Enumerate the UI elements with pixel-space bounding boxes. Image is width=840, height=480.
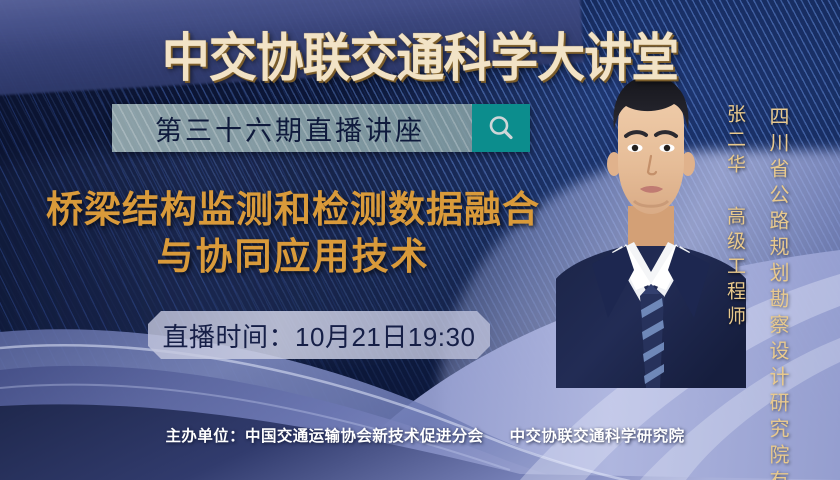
footer-organizers: 主办单位：中国交通运输协会新技术促进分会中交协联交通科学研究院: [0, 424, 840, 446]
speaker-name-vertical: 张二华 高级工程师: [721, 104, 748, 331]
live-lecture-poster: 中交协联交通科学大讲堂 第三十六期直播讲座 桥梁结构监测和检测数据融合 与协同应…: [0, 0, 840, 480]
search-button[interactable]: [472, 104, 530, 152]
speaker-portrait: [556, 58, 746, 388]
episode-label-container: 第三十六期直播讲座: [112, 104, 472, 152]
episode-bar: 第三十六期直播讲座: [112, 104, 530, 152]
page-title: 中交协联交通科学大讲堂: [34, 16, 807, 91]
lecture-title-line-2: 与协同应用技术: [28, 233, 558, 280]
broadcast-time-badge: 直播时间：10月21日19:30: [148, 311, 490, 359]
lecture-title: 桥梁结构监测和检测数据融合 与协同应用技术: [28, 186, 558, 281]
lecture-title-line-1: 桥梁结构监测和检测数据融合: [28, 186, 558, 233]
footer-organizer-2: 中交协联交通科学研究院: [510, 428, 685, 445]
broadcast-time-text: 直播时间：10月21日19:30: [163, 317, 476, 354]
episode-label: 第三十六期直播讲座: [155, 109, 425, 148]
footer-prefix: 主办单位：: [166, 428, 246, 445]
footer-organizer-1: 中国交通运输协会新技术促进分会: [245, 428, 484, 445]
search-icon: [486, 113, 516, 143]
